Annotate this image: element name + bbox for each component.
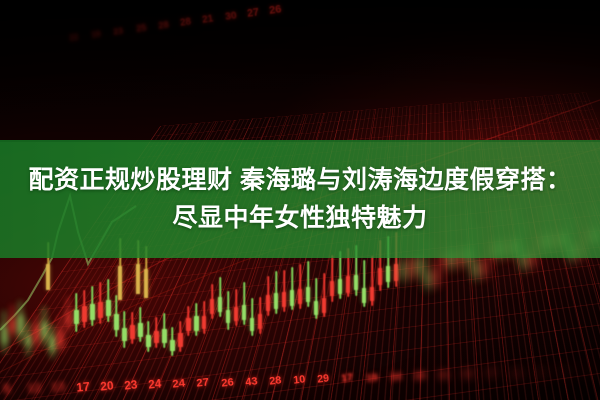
candlestick-body [346, 276, 350, 292]
candlestick [130, 312, 135, 374]
candlestick-body [162, 329, 167, 343]
candlestick-body [306, 287, 310, 302]
candlestick [298, 264, 302, 364]
candlestick [282, 270, 286, 364]
candlestick-body [234, 307, 238, 322]
candlestick [90, 286, 95, 376]
candlestick [66, 297, 71, 378]
candlestick [74, 293, 79, 377]
candlestick [114, 295, 119, 375]
candlestick-body [386, 266, 390, 282]
candlestick-body [314, 301, 318, 315]
candlestick [122, 311, 127, 375]
candlestick-body [58, 330, 63, 347]
candlestick [2, 311, 7, 382]
candlestick-body [146, 335, 151, 347]
candlestick-body [114, 314, 119, 330]
candlestick-body [18, 315, 23, 334]
candlestick [290, 267, 294, 364]
candlestick-body [98, 302, 103, 318]
candlestick-body [482, 260, 486, 276]
candlestick-body [330, 281, 334, 296]
candlestick-body [474, 262, 478, 277]
candlestick-body [34, 325, 39, 342]
candlestick-body [138, 323, 143, 337]
candlestick-body [402, 262, 406, 278]
candlestick [354, 245, 358, 359]
candlestick [26, 322, 31, 380]
candlestick-body [50, 336, 55, 351]
candlestick [242, 282, 246, 366]
candlestick-body [122, 328, 127, 340]
candlestick-body [144, 269, 148, 297]
candlestick [338, 251, 342, 361]
candlestick-body [370, 287, 374, 302]
candlestick [98, 282, 103, 375]
candlestick-body [202, 316, 206, 329]
candlestick [162, 313, 167, 371]
candlestick-body [242, 305, 246, 320]
candlestick-body [410, 260, 414, 277]
candlestick [250, 298, 254, 366]
candlestick-body [434, 268, 438, 285]
candlestick [330, 255, 334, 361]
candlestick-body [46, 264, 50, 290]
candlestick [154, 317, 159, 372]
headline-band: 配资正规炒股理财 秦海璐与刘涛海边度假穿搭： 尽显中年女性独特魅力 [0, 140, 600, 258]
candlestick [210, 284, 214, 369]
candlestick [10, 305, 15, 381]
banner-image: 22192325282821302726 8121317202324242726… [0, 0, 600, 400]
candlestick [34, 314, 39, 380]
candlestick [58, 317, 63, 378]
candlestick-body [66, 312, 71, 327]
candlestick-body [26, 335, 31, 346]
candlestick-body [178, 333, 183, 347]
candlestick-body [338, 279, 342, 294]
candlestick [370, 256, 374, 359]
candlestick-body [218, 297, 222, 312]
candlestick [258, 297, 262, 366]
candlestick [346, 248, 350, 360]
candlestick-body [170, 340, 175, 350]
candlestick [314, 278, 318, 362]
candlestick [42, 307, 47, 380]
candlestick-body [378, 268, 382, 285]
candlestick [306, 261, 310, 363]
candlestick-body [322, 298, 326, 313]
candlestick-body [154, 331, 159, 343]
candlestick [194, 302, 199, 369]
candlestick [202, 301, 206, 370]
candlestick [138, 307, 143, 373]
candlestick-body [130, 325, 135, 339]
candlestick-body [106, 300, 111, 316]
candlestick [266, 276, 270, 365]
candlestick-body [266, 295, 270, 311]
candlestick-body [426, 272, 430, 286]
candlestick [362, 260, 366, 359]
candlestick [50, 325, 55, 379]
candlestick [170, 327, 175, 371]
candlestick-body [282, 292, 286, 308]
candlestick [178, 321, 183, 370]
candlestick [18, 301, 23, 381]
candlestick [186, 306, 191, 370]
candlestick-body [250, 318, 254, 331]
candlestick-body [354, 275, 358, 290]
candlestick-body [74, 310, 79, 325]
candlestick [82, 290, 87, 377]
candlestick-body [298, 289, 302, 305]
candlestick-body [10, 319, 15, 332]
candlestick [226, 291, 230, 368]
candlestick-body [42, 322, 47, 339]
headline-line-1: 配资正规炒股理财 秦海璐与刘涛海边度假穿搭： [29, 163, 572, 198]
candlestick-body [90, 304, 95, 320]
candlestick-body [274, 293, 278, 309]
candlestick-body [290, 290, 294, 306]
candlestick-body [118, 266, 122, 300]
candlestick [218, 277, 222, 368]
candlestick-body [82, 306, 87, 322]
candlestick-body [136, 264, 140, 294]
candlestick [234, 289, 238, 367]
candlestick-body [210, 299, 214, 314]
candlestick [274, 271, 278, 364]
candlestick-body [2, 326, 7, 343]
candlestick-body [258, 314, 262, 328]
candlestick [146, 321, 151, 373]
candlestick [322, 273, 326, 361]
headline-line-2: 尽显中年女性独特魅力 [172, 201, 427, 236]
candlestick-body [226, 310, 230, 323]
candlestick-body [418, 258, 422, 274]
candlestick-body [194, 316, 199, 331]
candlestick-body [186, 318, 191, 332]
candlestick-body [394, 264, 398, 281]
candlestick [106, 279, 111, 376]
candlestick-body [362, 288, 366, 303]
